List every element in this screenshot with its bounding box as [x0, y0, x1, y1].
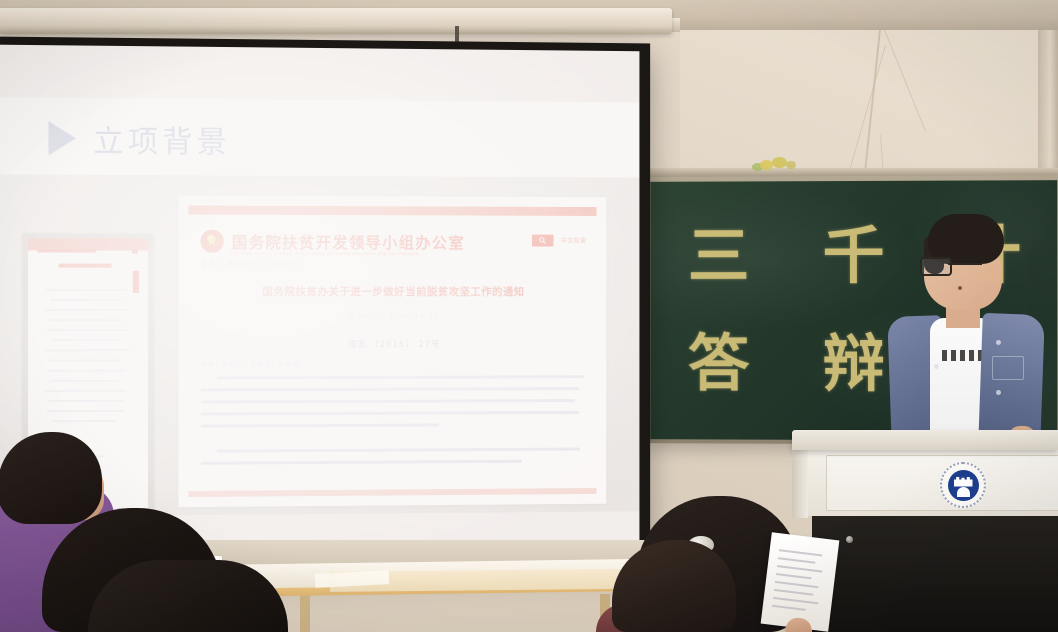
- document-meta: 发布时间： 2016-10-21: [178, 311, 606, 320]
- score-sheet: [761, 532, 840, 632]
- paper-text-line: [779, 549, 823, 556]
- mobile-text-line: [50, 380, 119, 382]
- text-line: [201, 460, 523, 465]
- mobile-text-line: [53, 420, 116, 422]
- document-number: 国发 〔2016〕 27号: [178, 338, 606, 351]
- document-headline: 国务院扶贫办关于进一步做好当前脱贫攻坚工作的通知: [178, 284, 606, 299]
- shirt-button: [996, 390, 1001, 395]
- search-icon[interactable]: [532, 235, 554, 247]
- eyeglasses-icon: [920, 257, 982, 272]
- slide-section-title: 立项背景: [93, 116, 231, 161]
- slide-title-row: 立项背景: [48, 116, 230, 162]
- paper-text-line: [773, 597, 819, 605]
- podium-top: [792, 430, 1058, 450]
- document-paragraph: [201, 447, 583, 474]
- podium-screw: [846, 536, 853, 543]
- podium-base: [812, 514, 1058, 632]
- play-triangle-icon: [48, 121, 76, 156]
- document-bottom-rule: [188, 488, 596, 497]
- mobile-text-line: [46, 329, 127, 331]
- document-top-rule: [188, 205, 596, 215]
- mobile-text-line: [46, 289, 125, 291]
- text-line: [201, 424, 439, 428]
- organization-name-en: The State Council Leading Group Office o…: [230, 251, 419, 256]
- mobile-side-tab: [133, 271, 139, 293]
- mobile-text-line: [46, 410, 123, 412]
- mole: [958, 286, 962, 290]
- document-paragraph: [201, 375, 583, 437]
- paper-text-line: [774, 589, 814, 596]
- national-emblem-icon: [201, 230, 224, 253]
- mobile-text-line: [48, 359, 121, 361]
- audience-head: [0, 432, 102, 524]
- shirt-button: [934, 364, 939, 369]
- text-line: [201, 387, 579, 391]
- desk-leg: [300, 592, 310, 632]
- mobile-text-line: [48, 400, 123, 402]
- shirt-button: [996, 340, 1001, 345]
- crest-inner: [948, 470, 979, 501]
- paper-text-line: [775, 581, 819, 588]
- breadcrumb: 首页 | 政策文件 | 通知公告: [201, 258, 301, 268]
- mobile-text-line: [46, 370, 125, 372]
- text-line: [201, 399, 576, 404]
- ear: [988, 264, 1002, 283]
- university-crest-icon: [940, 462, 986, 508]
- search-glyph: [539, 237, 547, 245]
- mobile-text-line: [44, 390, 125, 392]
- search-label: 中文检索: [561, 236, 587, 245]
- text-line: [217, 375, 584, 379]
- paper-text-line: [778, 557, 816, 564]
- text-line: [217, 448, 580, 453]
- mobile-text-line: [44, 309, 127, 311]
- text-line: [201, 411, 579, 416]
- paper-text-line: [772, 605, 806, 611]
- document-header: 国务院扶贫开发领导小组办公室: [201, 230, 465, 254]
- shirt-pocket: [992, 356, 1024, 380]
- organization-name-cn: 国务院扶贫开发领导小组办公室: [232, 230, 465, 253]
- mobile-text-line: [50, 299, 121, 301]
- mobile-topbar-text: [37, 249, 96, 252]
- projector-screen-housing: [0, 8, 672, 34]
- government-document-screenshot: 国务院扶贫开发领导小组办公室 The State Council Leading…: [178, 195, 606, 507]
- paper-text-line: [776, 573, 812, 579]
- mobile-headline: [59, 264, 112, 268]
- document-salutation: 各省、自治区、直辖市人民政府：: [201, 359, 306, 368]
- paper-text-line: [777, 565, 823, 573]
- tshirt-graphic-print: [942, 350, 984, 361]
- mobile-topbar-icon: [132, 250, 138, 254]
- classroom-presentation-photo: 三 千 计 划 答 辩 会: [0, 0, 1058, 632]
- mobile-text-line: [44, 349, 129, 351]
- flower: [786, 161, 796, 169]
- mobile-text-line: [48, 319, 123, 321]
- mobile-text-line: [53, 339, 120, 341]
- flower: [772, 157, 787, 168]
